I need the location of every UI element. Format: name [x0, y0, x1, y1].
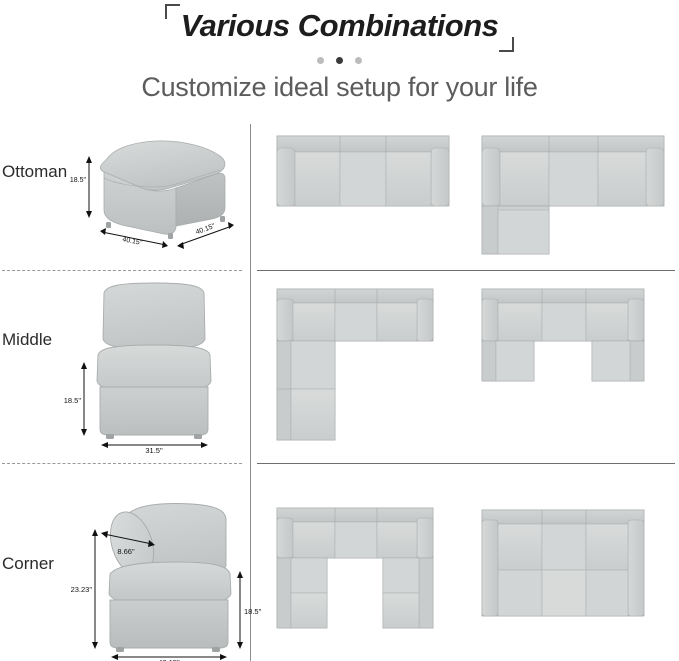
middle-height-value: 18.5"	[64, 396, 82, 405]
dot-2-icon	[336, 57, 343, 64]
module-label-corner: Corner	[2, 554, 54, 574]
modules-column: 18.5" 40.15" 40.15" Ottoman	[0, 118, 250, 661]
dimension-corner-width: 40.15"	[111, 654, 227, 661]
dot-separator	[0, 52, 679, 70]
page-title: Various Combinations	[181, 6, 499, 46]
ottoman-width-value: 40.15"	[122, 236, 143, 247]
middle-illustration: 18.5" 31.5"	[62, 277, 250, 453]
module-ottoman: 18.5" 40.15" 40.15" Ottoman	[0, 118, 250, 270]
combo-straight-3seat	[275, 134, 451, 214]
ottoman-illustration: 18.5" 40.15" 40.15"	[60, 126, 250, 256]
dimension-ottoman-depth: 40.15"	[177, 222, 234, 249]
bracket-bottom-right-icon	[499, 37, 514, 52]
combination-row-1	[251, 118, 679, 270]
corner-illustration: 8.66" 23.23" 18.5"	[60, 482, 250, 660]
combo-l-shape-large	[275, 287, 435, 442]
combo-u-shape-shallow	[480, 287, 646, 383]
module-middle: 18.5" 31.5" Middle	[0, 271, 250, 463]
title-block: Various Combinations	[0, 4, 679, 52]
middle-width-value: 31.5"	[145, 446, 163, 455]
page-subtitle: Customize ideal setup for your life	[0, 70, 679, 104]
dimension-middle-width: 31.5"	[101, 442, 208, 455]
infographic-page: Various Combinations Customize ideal set…	[0, 0, 679, 661]
corner-total-height-value: 23.23"	[71, 585, 93, 594]
combo-pit-rectangle	[480, 508, 646, 618]
dimension-middle-height: 18.5"	[64, 362, 87, 436]
ottoman-height-value: 18.5"	[70, 177, 87, 184]
module-corner: 8.66" 23.23" 18.5"	[0, 464, 250, 661]
combo-l-shape-small	[480, 134, 666, 256]
bracket-top-left-icon	[165, 4, 180, 19]
module-label-ottoman: Ottoman	[2, 162, 67, 182]
dot-1-icon	[317, 57, 324, 64]
combination-row-3	[251, 464, 679, 661]
corner-arm-width-value: 8.66"	[117, 547, 135, 556]
ottoman-depth-value: 40.15"	[195, 223, 217, 237]
dimension-ottoman-height: 18.5"	[70, 156, 92, 218]
combinations-column	[251, 118, 679, 661]
combination-row-2	[251, 271, 679, 463]
module-label-middle: Middle	[2, 330, 52, 350]
combo-u-shape-deep	[275, 506, 435, 630]
dimension-corner-total-height: 23.23"	[71, 529, 98, 649]
dot-3-icon	[355, 57, 362, 64]
header: Various Combinations Customize ideal set…	[0, 0, 679, 118]
